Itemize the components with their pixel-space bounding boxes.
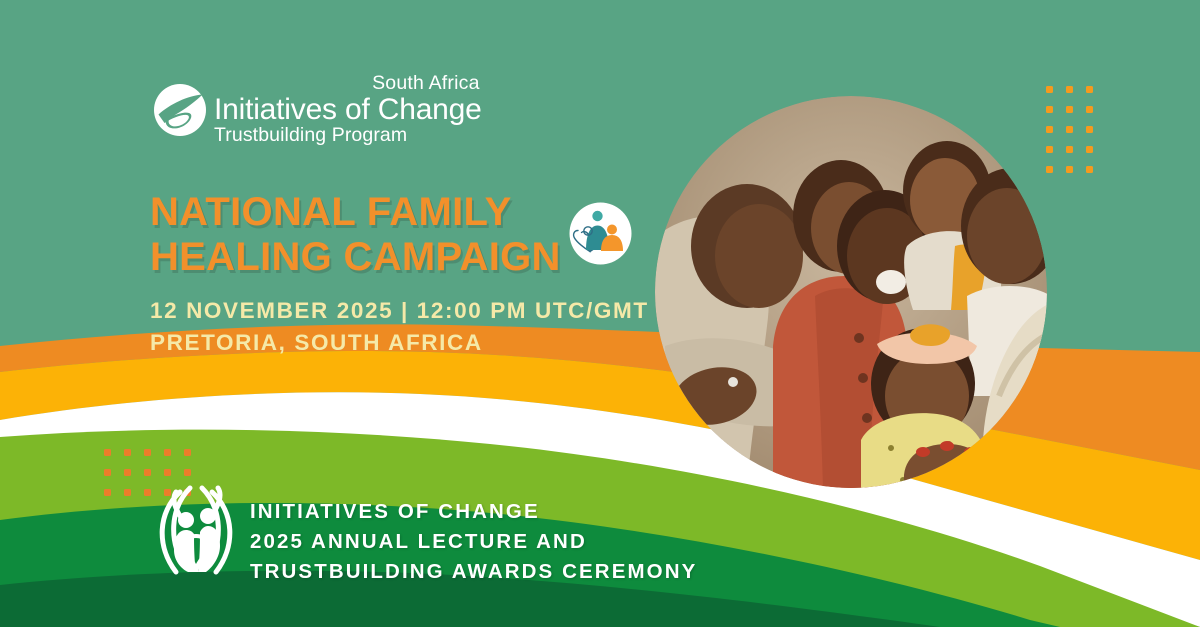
page-title: NATIONAL FAMILY HEALING CAMPAIGN bbox=[150, 190, 570, 280]
brand-name: Initiatives of Change bbox=[214, 95, 482, 125]
decorative-dots-top-right bbox=[1046, 86, 1106, 186]
dot bbox=[104, 449, 111, 456]
dot bbox=[1086, 126, 1093, 133]
dot bbox=[1066, 146, 1073, 153]
footer-line-1: INITIATIVES OF CHANGE bbox=[250, 497, 697, 527]
dot bbox=[144, 449, 151, 456]
dot bbox=[1066, 126, 1073, 133]
dot bbox=[184, 449, 191, 456]
dot bbox=[104, 489, 111, 496]
brand-logo: South Africa Initiatives of Change Trust… bbox=[152, 74, 482, 145]
brand-country: South Africa bbox=[214, 74, 482, 94]
dot bbox=[1066, 166, 1073, 173]
dot bbox=[1086, 166, 1093, 173]
dot bbox=[1086, 146, 1093, 153]
dot bbox=[1046, 106, 1053, 113]
event-location: PRETORIA, SOUTH AFRICA bbox=[150, 327, 649, 359]
event-details: 12 NOVEMBER 2025 | 12:00 PM UTC/GMT PRET… bbox=[150, 295, 649, 359]
family-embrace-photo bbox=[655, 96, 1047, 488]
dot bbox=[1046, 146, 1053, 153]
family-healing-badge-icon bbox=[568, 201, 633, 266]
dot bbox=[1086, 106, 1093, 113]
footer-title: INITIATIVES OF CHANGE 2025 ANNUAL LECTUR… bbox=[250, 497, 697, 587]
dot bbox=[164, 469, 171, 476]
headline-line-1: NATIONAL FAMILY bbox=[150, 190, 570, 235]
dot bbox=[124, 489, 131, 496]
dot bbox=[144, 469, 151, 476]
brand-program: Trustbuilding Program bbox=[214, 126, 482, 146]
dot bbox=[124, 449, 131, 456]
promotional-poster: South Africa Initiatives of Change Trust… bbox=[0, 0, 1200, 627]
dot bbox=[1046, 126, 1053, 133]
dot bbox=[184, 469, 191, 476]
dot bbox=[1046, 86, 1053, 93]
dot bbox=[104, 469, 111, 476]
footer-line-3: TRUSTBUILDING AWARDS CEREMONY bbox=[250, 557, 697, 587]
dot bbox=[164, 449, 171, 456]
dot bbox=[124, 469, 131, 476]
headline-line-2: HEALING CAMPAIGN bbox=[150, 235, 570, 280]
iofc-leaf-mark-icon bbox=[152, 82, 208, 138]
family-photo-illustration bbox=[655, 96, 1047, 488]
dot bbox=[1086, 86, 1093, 93]
event-date-time: 12 NOVEMBER 2025 | 12:00 PM UTC/GMT bbox=[150, 295, 649, 327]
dot bbox=[1066, 86, 1073, 93]
dot bbox=[1066, 106, 1073, 113]
brand-text-block: South Africa Initiatives of Change Trust… bbox=[214, 74, 482, 145]
trustbuilding-figures-emblem-icon bbox=[150, 476, 242, 588]
footer-line-2: 2025 ANNUAL LECTURE AND bbox=[250, 527, 697, 557]
dot bbox=[1046, 166, 1053, 173]
